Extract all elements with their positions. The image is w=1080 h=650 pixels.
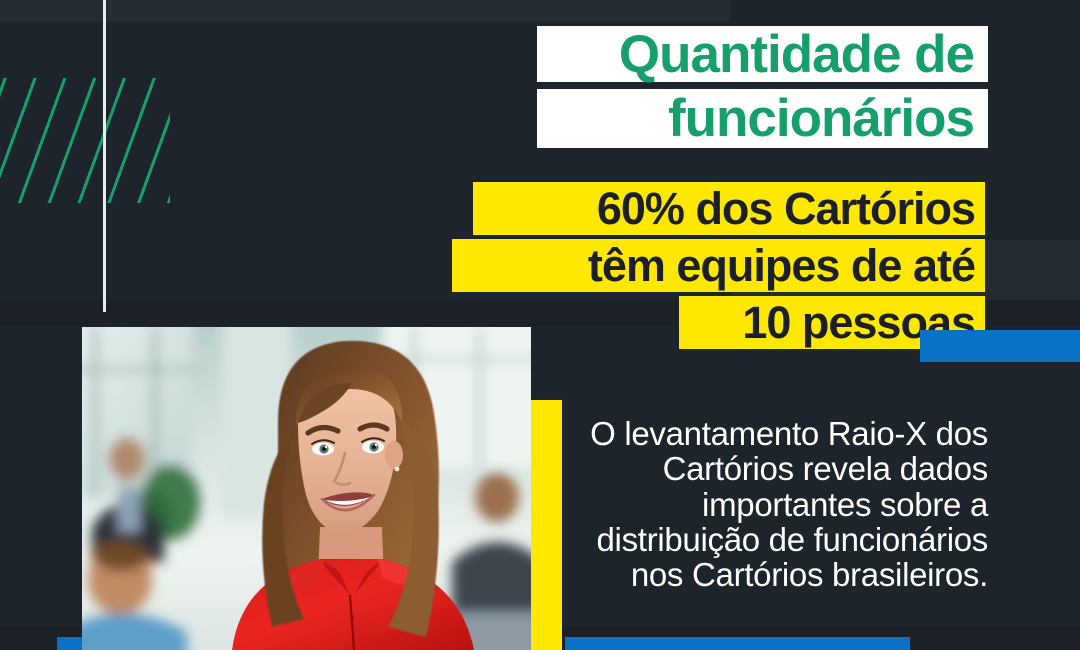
page-title-line-1: Quantidade de xyxy=(619,28,974,81)
vertical-rule-decoration xyxy=(103,0,106,312)
body-paragraph: O levantamento Raio-X dos Cartórios reve… xyxy=(580,416,988,592)
title-banner-line-1: Quantidade de xyxy=(537,26,988,82)
yellow-accent-strip xyxy=(531,400,562,650)
headline-banner-line-1: 60% dos Cartórios xyxy=(473,182,985,235)
blue-accent-bar-right xyxy=(920,330,1080,362)
title-banner-line-2: funcionários xyxy=(537,89,988,148)
photo-woman-red-blouse xyxy=(82,327,531,650)
blue-accent-bar-bottom-right xyxy=(565,637,910,650)
diagonal-stripes-decoration xyxy=(0,78,170,203)
headline-line-2: têm equipes de até xyxy=(588,243,975,288)
page-title-line-2: funcionários xyxy=(668,92,974,145)
headline-banner-line-2: têm equipes de até xyxy=(452,239,985,292)
poster-canvas: Quantidade de funcionários 60% dos Cartó… xyxy=(0,0,1080,650)
background-panel-top-left xyxy=(0,0,730,22)
photo-illustration xyxy=(82,327,531,650)
headline-line-1: 60% dos Cartórios xyxy=(597,186,975,231)
